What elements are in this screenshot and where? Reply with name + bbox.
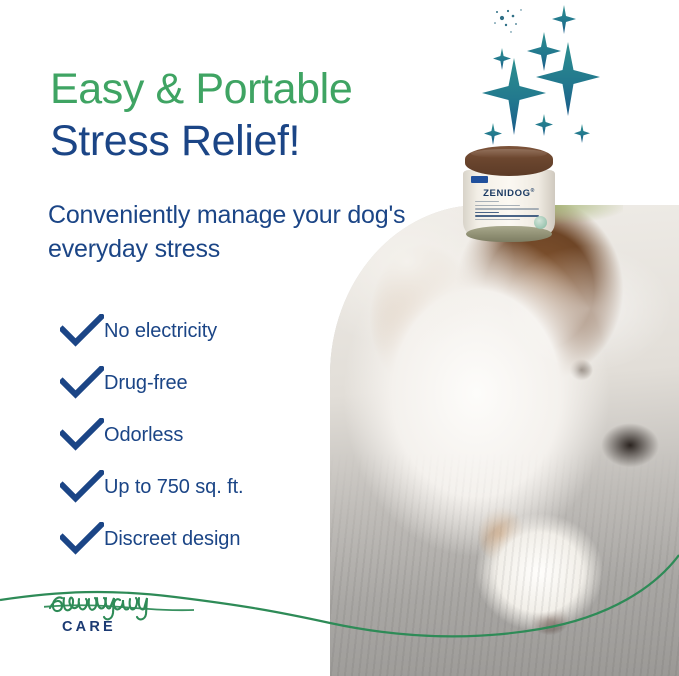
product-jar: ZENIDOG® bbox=[463, 146, 555, 246]
jar-print-line bbox=[475, 212, 499, 213]
brand-logo-care: CARE bbox=[62, 619, 116, 635]
jar-lid bbox=[465, 146, 553, 176]
jar-print-line bbox=[475, 219, 520, 220]
jar-brand-text: ZENIDOG bbox=[483, 188, 530, 199]
jar-print-line bbox=[475, 201, 499, 202]
jar-brand-name: ZENIDOG® bbox=[463, 188, 555, 199]
marketing-infographic: ZENIDOG® Easy & Portable Stress Relief! … bbox=[0, 0, 679, 676]
jar-print-line bbox=[475, 205, 520, 206]
headline-line-2: Stress Relief! bbox=[50, 116, 480, 166]
list-item-label: Drug-free bbox=[104, 372, 188, 395]
jar-trademark: ® bbox=[531, 188, 535, 194]
jar-print-line bbox=[475, 215, 539, 216]
check-icon bbox=[60, 522, 104, 556]
jar-brand-logo-icon bbox=[471, 176, 488, 183]
list-item: Up to 750 sq. ft. bbox=[60, 461, 360, 513]
check-icon bbox=[60, 418, 104, 452]
blanket-texture bbox=[330, 205, 679, 676]
list-item-label: Discreet design bbox=[104, 528, 240, 551]
list-item: Drug-free bbox=[60, 357, 360, 409]
list-item: Discreet design bbox=[60, 513, 360, 565]
jar-print-line bbox=[475, 208, 539, 209]
brand-logo: CARE bbox=[44, 586, 194, 644]
check-icon bbox=[60, 366, 104, 400]
check-icon bbox=[60, 314, 104, 348]
check-icon bbox=[60, 470, 104, 504]
list-item-label: Odorless bbox=[104, 424, 183, 447]
list-item: Odorless bbox=[60, 409, 360, 461]
list-item: No electricity bbox=[60, 305, 360, 357]
sparkle-stars-icon bbox=[472, 0, 612, 160]
dog-photo bbox=[330, 205, 679, 676]
jar-fine-print bbox=[475, 201, 539, 222]
jar-seal-icon bbox=[534, 216, 547, 229]
headline-line-1: Easy & Portable bbox=[50, 64, 480, 114]
feature-list: No electricity Drug-free Odorless Up to … bbox=[60, 305, 360, 565]
list-item-label: Up to 750 sq. ft. bbox=[104, 476, 244, 499]
list-item-label: No electricity bbox=[104, 320, 217, 343]
